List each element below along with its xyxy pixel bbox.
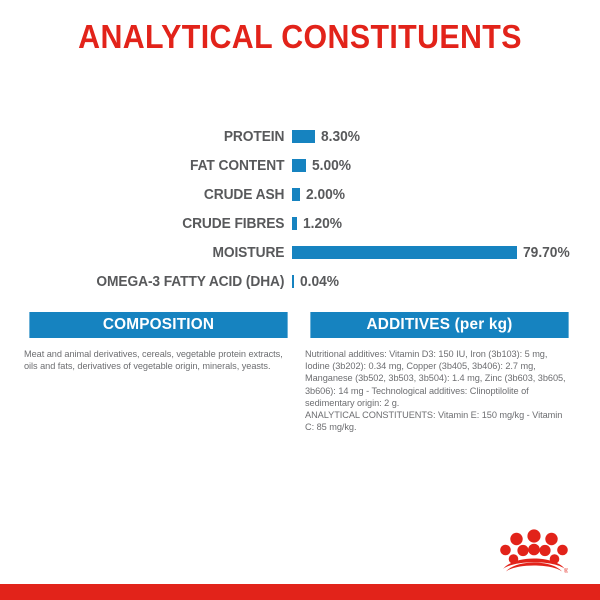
additives-heading: ADDITIVES (per kg) xyxy=(310,312,568,338)
bar-area: 5.00% xyxy=(292,158,600,174)
chart-row: MOISTURE 79.70% xyxy=(0,238,600,267)
analytical-constituents-chart: PROTEIN 8.30% FAT CONTENT 5.00% CRUDE AS… xyxy=(0,122,600,296)
bar-value-fat-content: 5.00% xyxy=(312,158,351,174)
crown-icon: ® xyxy=(500,528,568,576)
chart-label-crude-fibres: CRUDE FIBRES xyxy=(15,216,292,232)
chart-row: OMEGA-3 FATTY ACID (DHA) 0.04% xyxy=(0,267,600,296)
royal-canin-crown-logo: ® xyxy=(500,528,568,576)
bar-value-crude-ash: 2.00% xyxy=(306,187,345,203)
bottom-red-bar xyxy=(0,584,600,600)
chart-row: FAT CONTENT 5.00% xyxy=(0,151,600,180)
chart-row: CRUDE FIBRES 1.20% xyxy=(0,209,600,238)
bar-area: 2.00% xyxy=(292,187,600,203)
additives-body-text: Nutritional additives: Vitamin D3: 150 I… xyxy=(305,348,574,433)
bar-value-protein: 8.30% xyxy=(321,129,360,145)
composition-body-text: Meat and animal derivatives, cereals, ve… xyxy=(24,348,293,372)
chart-label-fat-content: FAT CONTENT xyxy=(15,158,292,174)
bar-value-moisture: 79.70% xyxy=(523,245,570,261)
bar-area: 1.20% xyxy=(292,216,600,232)
bar-fat-content xyxy=(292,159,306,172)
bar-crude-fibres xyxy=(292,217,297,230)
composition-section: COMPOSITION Meat and animal derivatives,… xyxy=(24,312,293,433)
chart-label-protein: PROTEIN xyxy=(15,129,292,145)
bar-value-omega-3-fatty-acid-dha: 0.04% xyxy=(300,274,339,290)
trademark-symbol: ® xyxy=(564,568,568,575)
bar-area: 79.70% xyxy=(292,245,600,261)
chart-row: PROTEIN 8.30% xyxy=(0,122,600,151)
composition-heading: COMPOSITION xyxy=(29,312,287,338)
bar-crude-ash xyxy=(292,188,300,201)
chart-label-omega-3-fatty-acid-dha: OMEGA-3 FATTY ACID (DHA) xyxy=(15,274,292,290)
page-title: ANALYTICAL CONSTITUENTS xyxy=(24,18,576,56)
chart-label-crude-ash: CRUDE ASH xyxy=(15,187,292,203)
chart-label-moisture: MOISTURE xyxy=(15,245,292,261)
chart-row: CRUDE ASH 2.00% xyxy=(0,180,600,209)
bar-omega-3-fatty-acid-dha xyxy=(292,275,294,288)
info-sections: COMPOSITION Meat and animal derivatives,… xyxy=(24,312,577,433)
bar-protein xyxy=(292,130,315,143)
bar-area: 8.30% xyxy=(292,129,600,145)
additives-section: ADDITIVES (per kg) Nutritional additives… xyxy=(305,312,574,433)
bar-moisture xyxy=(292,246,517,259)
bar-value-crude-fibres: 1.20% xyxy=(303,216,342,232)
bar-area: 0.04% xyxy=(292,274,600,290)
